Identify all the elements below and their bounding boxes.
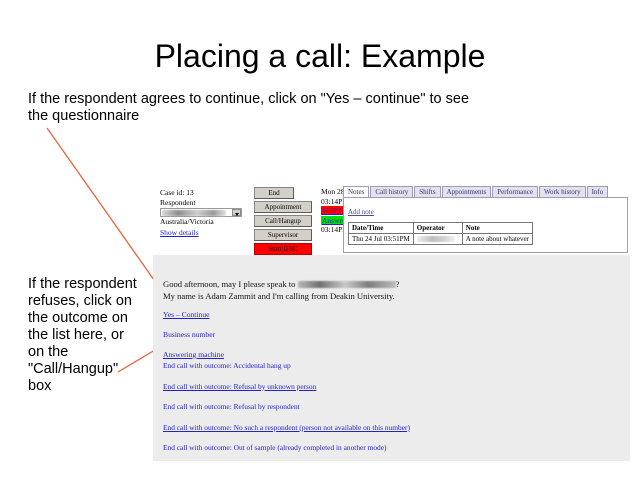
case-id-label: Case id: 13	[160, 188, 250, 198]
respondent-name-redacted	[298, 281, 396, 288]
link-yes-continue[interactable]: Yes – Continue	[163, 310, 463, 319]
script-line1-pre: Good afternoon, may I please speak to	[163, 279, 298, 289]
case-info-block: Case id: 13 Respondent Australia/Victori…	[160, 188, 250, 237]
table-header-row: Date/Time Operator Note	[349, 223, 533, 234]
column-header-operator: Operator	[413, 223, 462, 234]
notes-tab-body: Add note Date/Time Operator Note Thu 24 …	[343, 197, 628, 253]
respondent-select[interactable]	[160, 208, 242, 217]
tab-notes[interactable]: Notes	[343, 186, 369, 197]
link-outcome-no-such-respondent[interactable]: End call with outcome: No such a respond…	[163, 423, 603, 432]
link-answering-machine[interactable]: Answering machine	[163, 350, 463, 359]
slide-canvas: Placing a call: Example If the responden…	[0, 0, 640, 480]
script-line2: My name is Adam Zammit and I'm calling f…	[163, 291, 395, 301]
page-title: Placing a call: Example	[0, 38, 640, 75]
call-outcome-links: End call with outcome: Accidental hang u…	[163, 361, 603, 461]
end-button[interactable]: End	[254, 187, 294, 199]
respondent-value-redacted	[162, 210, 226, 216]
operator-redaction	[417, 236, 455, 242]
tab-performance[interactable]: Performance	[492, 186, 538, 197]
link-outcome-refusal-unknown-person[interactable]: End call with outcome: Refusal by unknow…	[163, 382, 603, 391]
cell-operator-redacted	[413, 234, 462, 245]
tab-work-history[interactable]: Work history	[539, 186, 586, 197]
link-outcome-refusal-respondent[interactable]: End call with outcome: Refusal by respon…	[163, 402, 603, 411]
column-header-note: Note	[462, 223, 532, 234]
embedded-app-screenshot: Case id: 13 Respondent Australia/Victori…	[153, 183, 630, 461]
supervisor-button[interactable]: Supervisor	[254, 229, 312, 241]
start-dbc-button[interactable]: Start DBC	[254, 243, 312, 255]
appointment-button[interactable]: Appointment	[254, 201, 312, 213]
table-row: Thu 24 Jul 03:51PM A note about whatever	[349, 234, 533, 245]
respondent-label: Respondent	[160, 198, 250, 208]
annotation-text-left: If the respondent refuses, click on the …	[28, 276, 140, 395]
add-note-link[interactable]: Add note	[348, 208, 374, 216]
chevron-down-icon[interactable]	[232, 209, 241, 216]
tab-shifts[interactable]: Shifts	[414, 186, 440, 197]
call-control-buttons: End Appointment Call/Hangup Supervisor S…	[254, 187, 316, 257]
tab-appointments[interactable]: Appointments	[442, 186, 492, 197]
info-tab-panel: Notes Call history Shifts Appointments P…	[343, 185, 628, 253]
link-business-number[interactable]: Business number	[163, 330, 463, 339]
call-script-text: Good afternoon, may I please speak to ? …	[163, 279, 603, 302]
script-line1-post: ?	[396, 279, 400, 289]
link-outcome-accidental-hang-up[interactable]: End call with outcome: Accidental hang u…	[163, 361, 603, 370]
cell-datetime: Thu 24 Jul 03:51PM	[349, 234, 414, 245]
column-header-datetime: Date/Time	[349, 223, 414, 234]
annotation-text-top: If the respondent agrees to continue, cl…	[28, 91, 488, 125]
notes-table: Date/Time Operator Note Thu 24 Jul 03:51…	[348, 222, 533, 245]
show-details-link[interactable]: Show details	[160, 228, 199, 238]
tab-call-history[interactable]: Call history	[370, 186, 413, 197]
cell-note: A note about whatever	[462, 234, 532, 245]
locale-label: Australia/Victoria	[160, 217, 250, 227]
tab-bar: Notes Call history Shifts Appointments P…	[343, 185, 628, 197]
call-hangup-button[interactable]: Call/Hangup	[254, 215, 312, 227]
tab-info[interactable]: Info	[587, 186, 609, 197]
link-outcome-out-of-sample[interactable]: End call with outcome: Out of sample (al…	[163, 443, 603, 452]
